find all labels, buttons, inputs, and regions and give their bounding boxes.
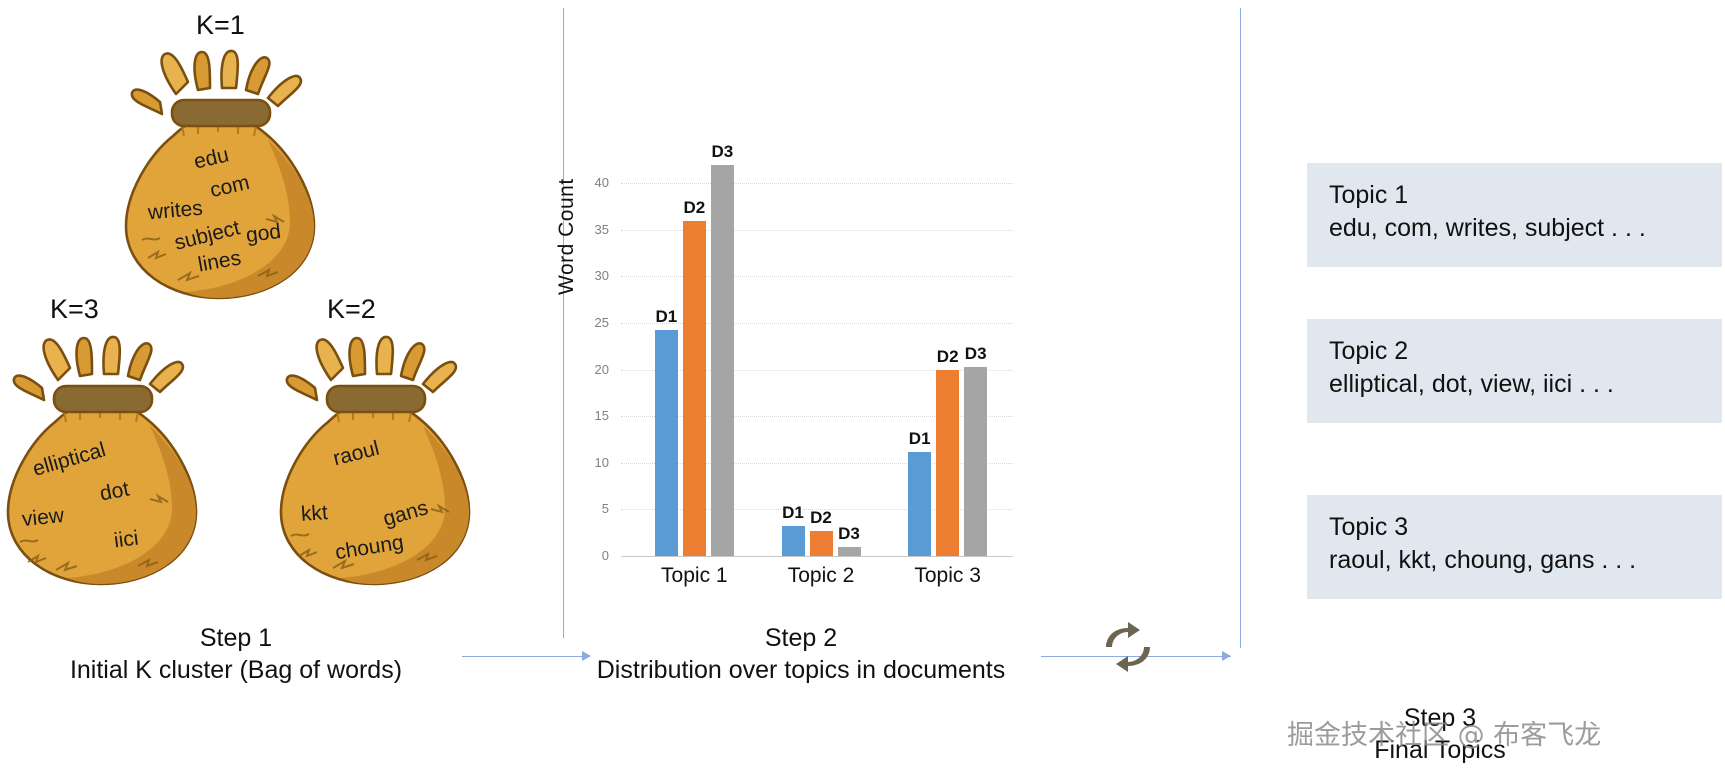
bag-k2-word-1: kkt <box>300 501 328 527</box>
step-2-subtitle: Distribution over topics in documents <box>596 654 1006 686</box>
chart-bar-label: D2 <box>683 198 705 218</box>
step-2-caption: Step 2 Distribution over topics in docum… <box>596 622 1006 686</box>
chart-y-tick-label: 25 <box>575 315 609 330</box>
chart-gridline <box>621 183 1013 184</box>
chart-bar-label: D1 <box>909 429 931 449</box>
step-1-subtitle: Initial K cluster (Bag of words) <box>26 654 446 686</box>
chart-y-tick-label: 35 <box>575 222 609 237</box>
chart-x-axis-line <box>621 556 1013 557</box>
topic-box-1-words: edu, com, writes, subject . . . <box>1329 212 1700 245</box>
topic-box-2[interactable]: Topic 2 elliptical, dot, view, iici . . … <box>1307 319 1722 423</box>
chart-bar-d3-1 <box>711 165 734 556</box>
chart-y-tick-label: 0 <box>575 548 609 563</box>
arrow-step1-to-step2-line <box>462 656 582 657</box>
topic-box-3-title: Topic 3 <box>1329 511 1700 544</box>
watermark-text: 掘金技术社区 @ 布客飞龙 <box>1287 713 1601 752</box>
chart-x-category-label: Topic 1 <box>661 564 728 588</box>
topic-box-3[interactable]: Topic 3 raoul, kkt, choung, gans . . . <box>1307 495 1722 599</box>
arrow-step1-to-step2-head <box>582 651 591 661</box>
chart-y-tick-label: 30 <box>575 268 609 283</box>
chart-y-tick-label: 15 <box>575 408 609 423</box>
chart-x-category-label: Topic 2 <box>788 564 855 588</box>
bag-k2-label: K=2 <box>327 294 376 325</box>
bag-k1: K=1 edu com wri <box>118 44 338 304</box>
chart-bar-d2-2 <box>810 531 833 556</box>
chart-y-tick-label: 10 <box>575 455 609 470</box>
chart-bar-d3-3 <box>964 367 987 556</box>
chart-gridline <box>621 276 1013 277</box>
chart-bar-label: D2 <box>810 508 832 528</box>
chart-bar-d1-2 <box>782 526 805 556</box>
chart-bar-d1-3 <box>908 452 931 556</box>
chart-gridline <box>621 323 1013 324</box>
bag-k1-word-2: writes <box>147 197 204 226</box>
step-2-title: Step 2 <box>596 622 1006 654</box>
bag-k3-label: K=3 <box>50 294 99 325</box>
step-1-title: Step 1 <box>26 622 446 654</box>
chart-bar-label: D3 <box>711 142 733 162</box>
chart-y-tick-label: 20 <box>575 362 609 377</box>
topic-box-2-words: elliptical, dot, view, iici . . . <box>1329 368 1700 401</box>
bag-k3: K=3 elliptical dot <box>0 330 220 590</box>
chart-bar-label: D3 <box>838 524 860 544</box>
topic-box-2-title: Topic 2 <box>1329 335 1700 368</box>
chart-bar-d3-2 <box>838 547 861 556</box>
panel-divider-right <box>1240 8 1241 648</box>
step-1-caption: Step 1 Initial K cluster (Bag of words) <box>26 622 446 686</box>
arrow-step2-to-step3-head <box>1222 651 1231 661</box>
chart-bar-label: D2 <box>937 347 959 367</box>
topic-box-1-title: Topic 1 <box>1329 179 1700 212</box>
chart-bar-label: D1 <box>782 503 804 523</box>
topic-box-1[interactable]: Topic 1 edu, com, writes, subject . . . <box>1307 163 1722 267</box>
bag-k3-word-2: view <box>21 504 65 532</box>
topic-box-3-words: raoul, kkt, choung, gans . . . <box>1329 544 1700 577</box>
chart-x-category-label: Topic 3 <box>914 564 981 588</box>
recycle-arrows-icon <box>1101 620 1155 674</box>
bag-k3-word-3: iici <box>113 527 140 554</box>
chart-y-tick-label: 40 <box>575 175 609 190</box>
bag-k1-label: K=1 <box>196 10 245 41</box>
chart-plot-area: 0510152025303540D1D2D3Topic 1D1D2D3Topic… <box>621 146 1013 556</box>
chart-bar-label: D1 <box>655 307 677 327</box>
chart-bar-d2-1 <box>683 221 706 556</box>
bag-k1-word-4: god <box>245 220 283 248</box>
chart-bar-label: D3 <box>965 344 987 364</box>
bag-k2: K=2 raoul kkt g <box>273 330 493 590</box>
chart-y-tick-label: 5 <box>575 501 609 516</box>
chart-bar-d1-1 <box>655 330 678 556</box>
chart-gridline <box>621 230 1013 231</box>
chart-bar-d2-3 <box>936 370 959 556</box>
word-count-bar-chart: Word Count 0510152025303540D1D2D3Topic 1… <box>563 110 1033 610</box>
